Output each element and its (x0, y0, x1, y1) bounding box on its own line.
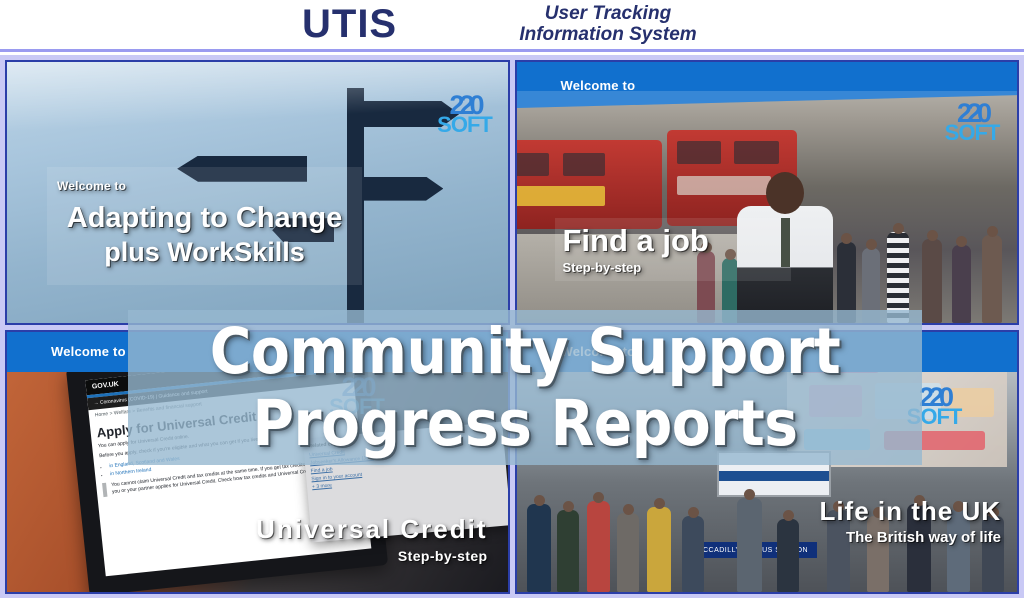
tile-adapting-to-change[interactable]: 220 SOFT Welcome to Adapting to Change p… (5, 60, 510, 325)
welcome-label: Welcome to (51, 344, 126, 359)
tile-find-a-job[interactable]: Welcome to 220 SOFT Find a job Step-by-s… (515, 60, 1020, 325)
tile-subtitle: Step-by-step (238, 548, 488, 564)
app-header: UTIS User Tracking Information System (0, 0, 1024, 52)
utis-home-screen: UTIS User Tracking Information System 22… (0, 0, 1024, 598)
tile-caption-adapting: Welcome to Adapting to Change plus WorkS… (47, 167, 362, 285)
brand-logo-220soft: 220 SOFT (941, 100, 1003, 144)
app-subtitle: User Tracking Information System (478, 3, 738, 45)
page-title: UTIS (302, 2, 397, 46)
logo-word: SOFT (941, 122, 1003, 144)
header-inner: UTIS User Tracking Information System (0, 0, 1024, 49)
overlay-title-line-2: Progress Reports (252, 388, 797, 460)
tile-caption-find-a-job: Find a job Step-by-step (555, 218, 791, 281)
logo-word: SOFT (434, 114, 496, 136)
tile-title-second-line: plus WorkSkills (57, 235, 352, 269)
tile-title: Life in the UK (731, 496, 1001, 526)
tile-title: Universal Credit (238, 514, 488, 544)
welcome-label: Welcome to (57, 179, 352, 193)
tile-title: Adapting to Change (57, 201, 352, 235)
tile-caption-universal-credit: Universal Credit Step-by-step (238, 514, 488, 564)
tile-title: Find a job (563, 224, 783, 258)
welcome-label: Welcome to (561, 78, 636, 93)
tile-subtitle: The British way of life (731, 529, 1001, 546)
govuk-link[interactable]: in Northern Ireland (110, 467, 152, 477)
tile-caption-life-in-the-uk: Life in the UK The British way of life (731, 496, 1001, 546)
brand-logo-220soft: 220 SOFT (434, 92, 496, 136)
overlay-title-line-1: Community Support (210, 316, 840, 388)
center-overlay-banner: Community Support Progress Reports (128, 310, 922, 465)
tile-subtitle: Step-by-step (563, 260, 783, 275)
